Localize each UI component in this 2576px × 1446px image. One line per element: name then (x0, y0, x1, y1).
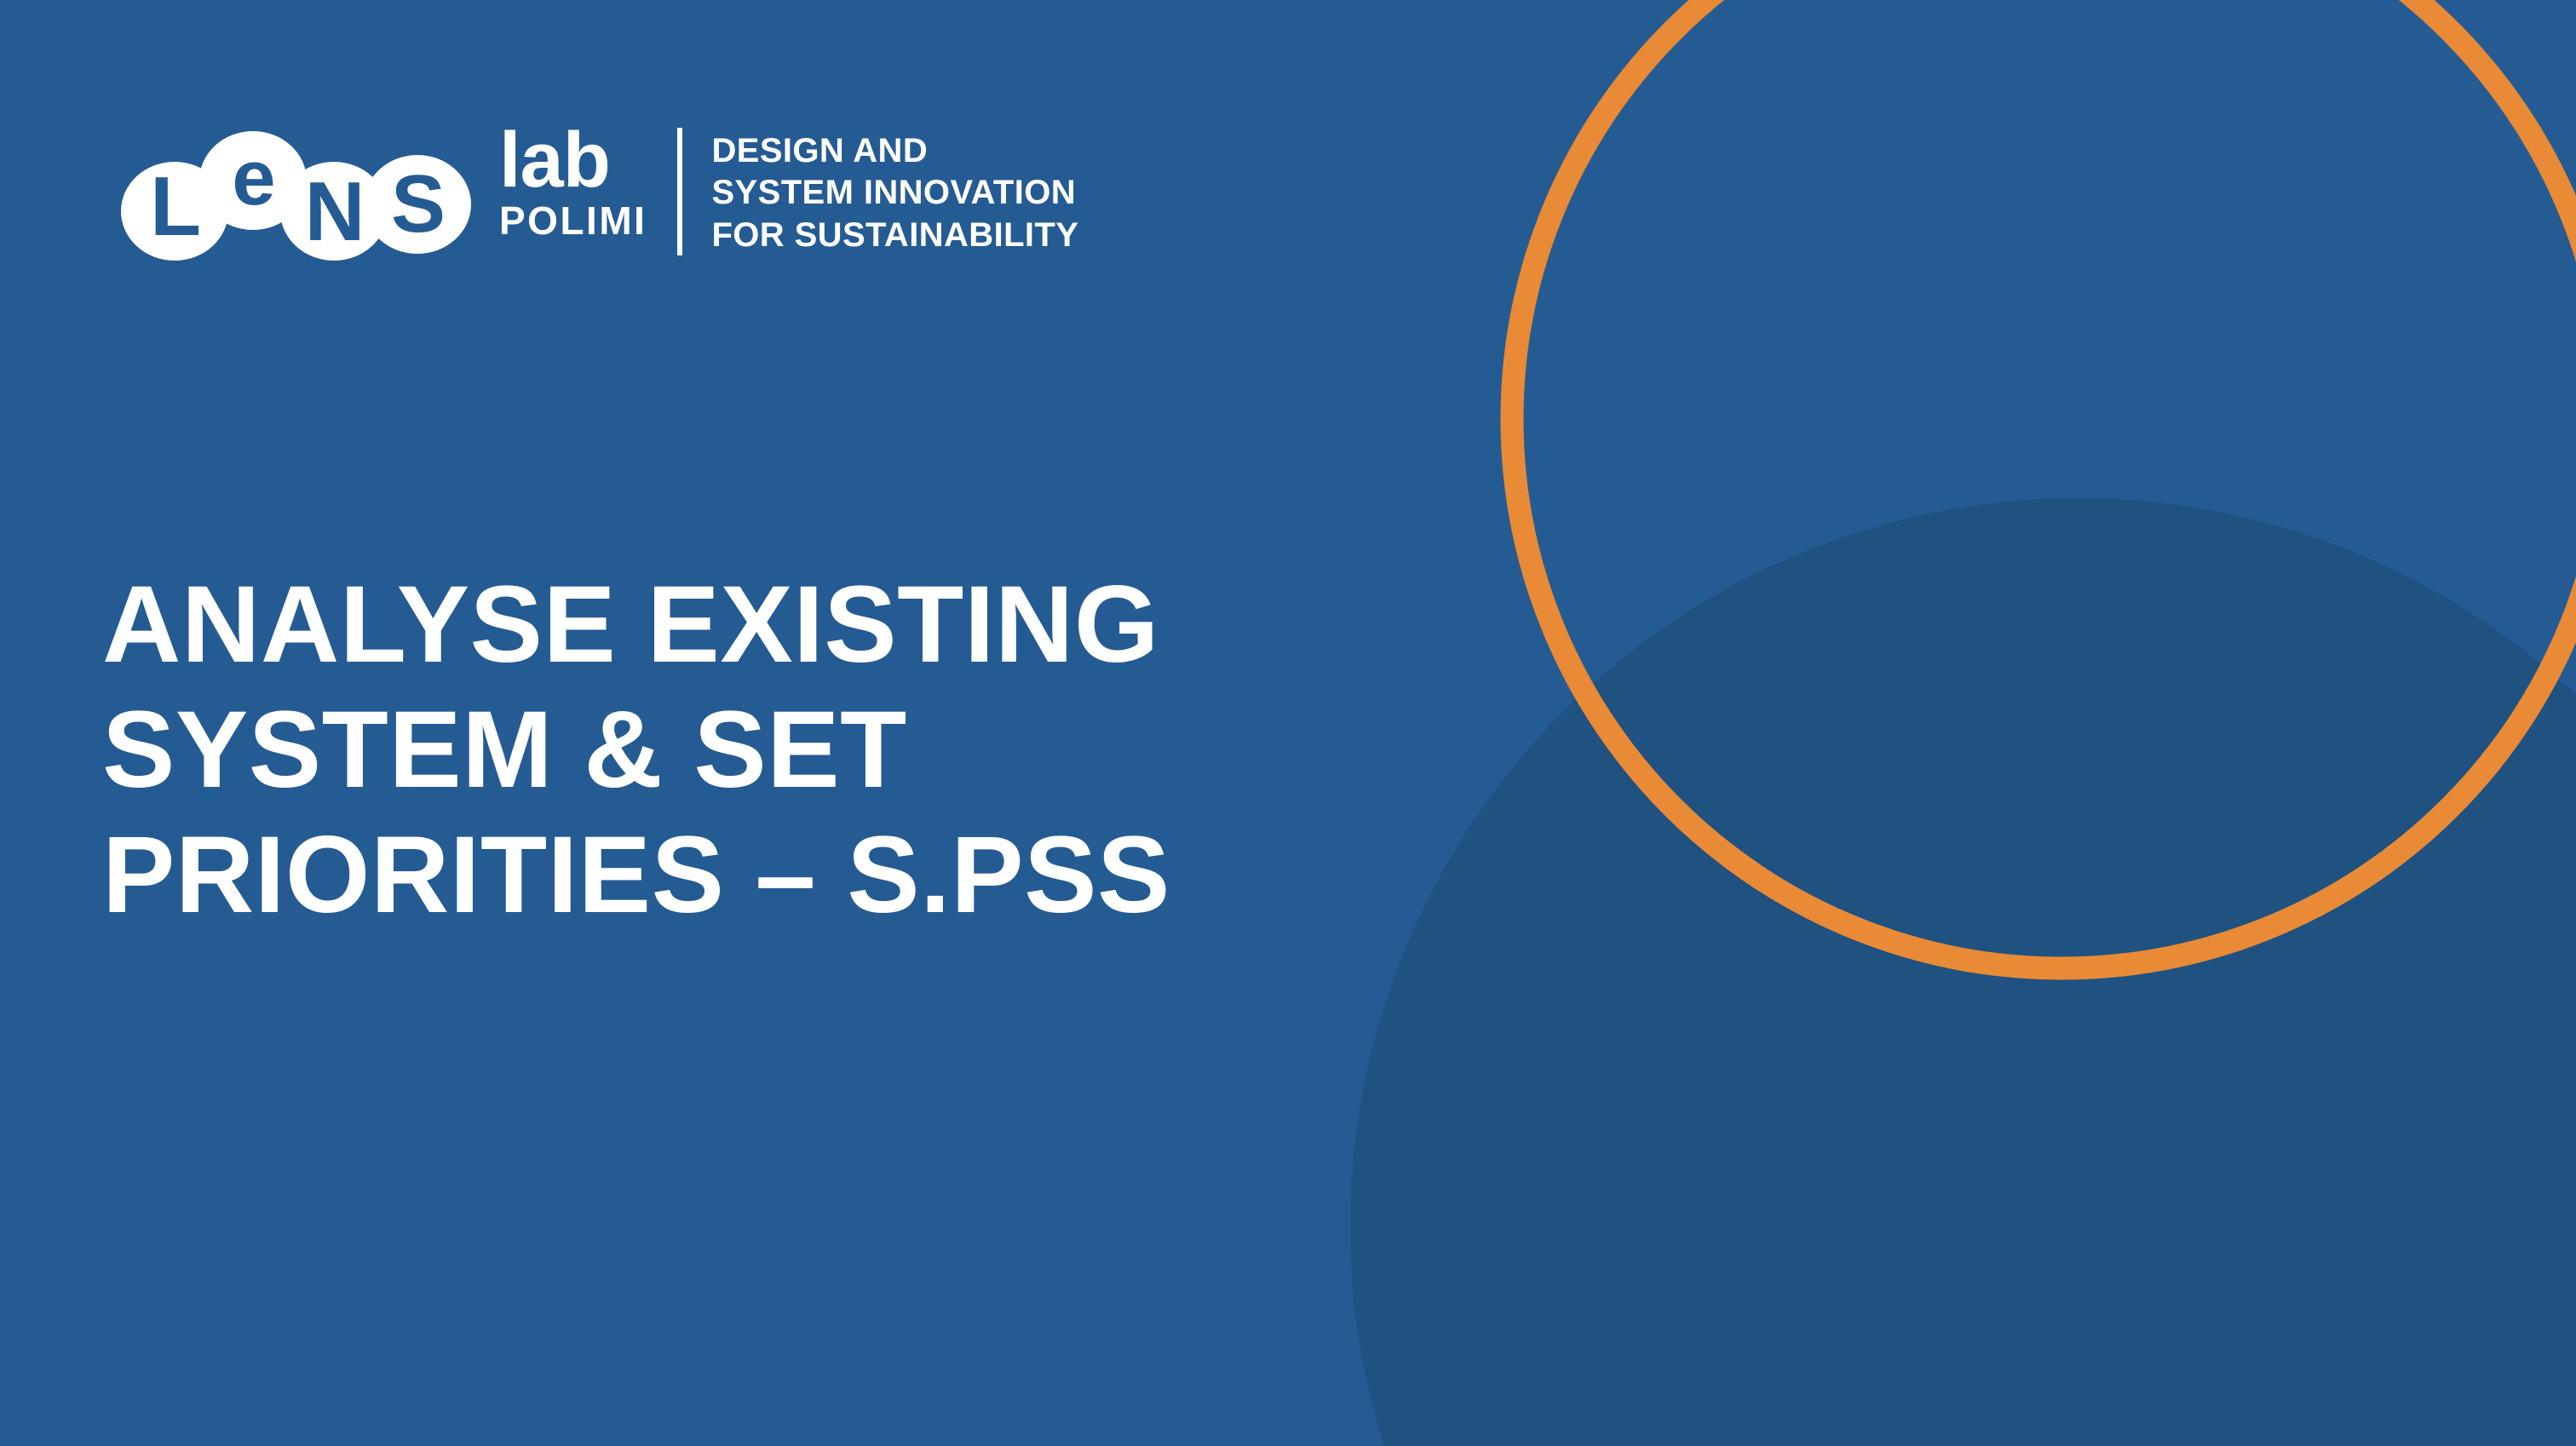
page-title: ANALYSE EXISTING SYSTEM & SET PRIORITIES… (102, 562, 1431, 938)
lens-letter-s: S (391, 158, 446, 250)
slide-canvas: L e N S lab POLIMI DESIGN AND SYSTEM INN… (0, 0, 2576, 1446)
polimi-wordmark: POLIMI (499, 200, 647, 241)
lab-polimi-block: lab POLIMI (499, 119, 647, 242)
tagline-line-3: FOR SUSTAINABILITY (711, 215, 1078, 255)
title-line-1: ANALYSE EXISTING (102, 562, 1431, 687)
logo-tagline: DESIGN AND SYSTEM INNOVATION FOR SUSTAIN… (711, 119, 1078, 255)
lens-letter-e: e (232, 135, 275, 221)
tagline-line-1: DESIGN AND (711, 131, 1078, 170)
lab-wordmark: lab (499, 128, 647, 193)
tagline-line-2: SYSTEM INNOVATION (711, 173, 1078, 212)
title-line-2: SYSTEM & SET (102, 687, 1431, 812)
lens-logo-mark: L e N S (119, 119, 477, 268)
logo-divider (677, 128, 682, 255)
lens-letter-l: L (150, 159, 201, 253)
lens-letter-n: N (305, 164, 365, 258)
title-line-3: PRIORITIES – S.PSS (102, 812, 1431, 938)
orange-ring (1512, 0, 2576, 968)
logo-lockup: L e N S lab POLIMI DESIGN AND SYSTEM INN… (119, 119, 1078, 264)
dark-blue-circle (1350, 498, 2576, 1446)
